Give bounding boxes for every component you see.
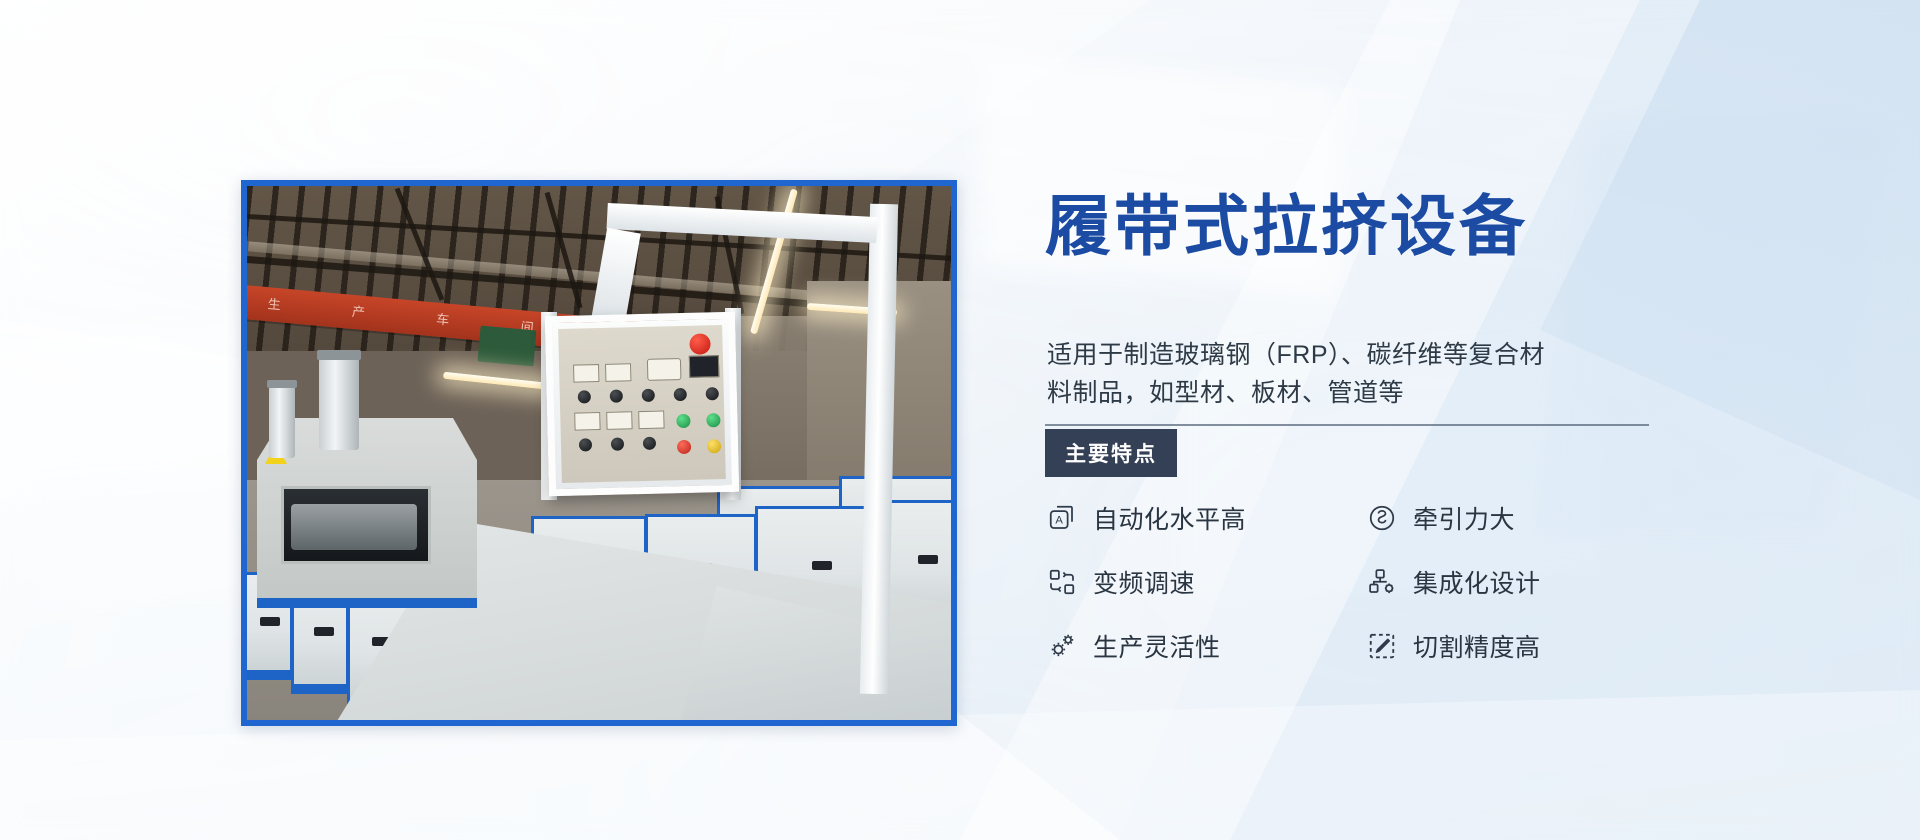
control-knob (611, 437, 624, 450)
feature-list: A 自动化水平高 牵引力大 (1045, 500, 1685, 692)
control-knob (610, 389, 623, 402)
integration-nodes-gear-icon (1365, 565, 1399, 599)
control-knob (578, 390, 591, 403)
svg-text:A: A (1055, 514, 1063, 526)
hydraulic-cylinder (319, 358, 359, 450)
cylinder-cap (317, 350, 361, 360)
indicator-display (638, 410, 664, 429)
indicator-display (606, 411, 632, 430)
control-panel-face (558, 325, 726, 483)
feature-label: 自动化水平高 (1093, 500, 1246, 536)
description-line-1: 适用于制造玻璃钢（FRP）、碳纤维等复合材 (1047, 341, 1545, 369)
feature-row: 变频调速 集成化设计 (1045, 564, 1685, 600)
traction-spiral-icon (1365, 501, 1399, 535)
indicator-display (573, 364, 599, 383)
banner-content: 履带式拉挤设备 适用于制造玻璃钢（FRP）、碳纤维等复合材 料制品，如型材、板材… (1045, 0, 1745, 840)
product-photo-card[interactable]: 生 产 车 间 (241, 180, 957, 726)
feature-label: 切割精度高 (1413, 628, 1541, 664)
control-knob (642, 389, 655, 402)
status-badge: 主要特点 (1045, 429, 1177, 477)
feature-row: 生产灵活性 切割精度高 (1045, 628, 1685, 664)
digital-display (689, 355, 720, 378)
gears-icon (1045, 629, 1079, 663)
pultrusion-roller (291, 504, 417, 550)
feature-item-traction[interactable]: 牵引力大 (1365, 500, 1685, 536)
section-divider (1045, 424, 1649, 426)
control-panel (545, 312, 739, 497)
frequency-nodes-icon (1045, 565, 1079, 599)
feature-item-cutting-precision[interactable]: 切割精度高 (1365, 628, 1685, 664)
feature-item-flexibility[interactable]: 生产灵活性 (1045, 628, 1365, 664)
feature-item-integration[interactable]: 集成化设计 (1365, 564, 1685, 600)
status-lamp-green (676, 414, 690, 428)
feature-label: 变频调速 (1093, 564, 1195, 600)
page-title: 履带式拉挤设备 (1045, 193, 1528, 259)
automation-frame-a-icon: A (1045, 501, 1079, 535)
feature-item-automation[interactable]: A 自动化水平高 (1045, 500, 1365, 536)
status-lamp-green (706, 413, 720, 427)
product-banner: 生 产 车 间 (0, 0, 1920, 840)
product-photo: 生 产 车 间 (247, 186, 951, 720)
emergency-stop-button (689, 333, 711, 355)
feature-row: A 自动化水平高 牵引力大 (1045, 500, 1685, 536)
control-knob (579, 438, 592, 451)
description-line-2: 料制品，如型材、板材、管道等 (1047, 379, 1404, 407)
precision-pencil-icon (1365, 629, 1399, 663)
feature-item-frequency[interactable]: 变频调速 (1045, 564, 1365, 600)
cylinder-cap (267, 380, 297, 388)
status-lamp-yellow (707, 439, 721, 453)
feature-label: 生产灵活性 (1093, 628, 1221, 664)
feature-label: 集成化设计 (1413, 564, 1541, 600)
control-knob (674, 388, 687, 401)
status-lamp-red (677, 440, 691, 454)
feature-label: 牵引力大 (1413, 500, 1515, 536)
control-knob (706, 387, 719, 400)
indicator-display (605, 363, 631, 382)
hydraulic-cylinder (269, 386, 295, 458)
control-knob (643, 437, 656, 450)
analog-meter (647, 358, 682, 381)
product-description: 适用于制造玻璃钢（FRP）、碳纤维等复合材 料制品，如型材、板材、管道等 (1047, 336, 1647, 412)
indicator-display (574, 412, 600, 431)
crane-trolley (478, 326, 537, 367)
